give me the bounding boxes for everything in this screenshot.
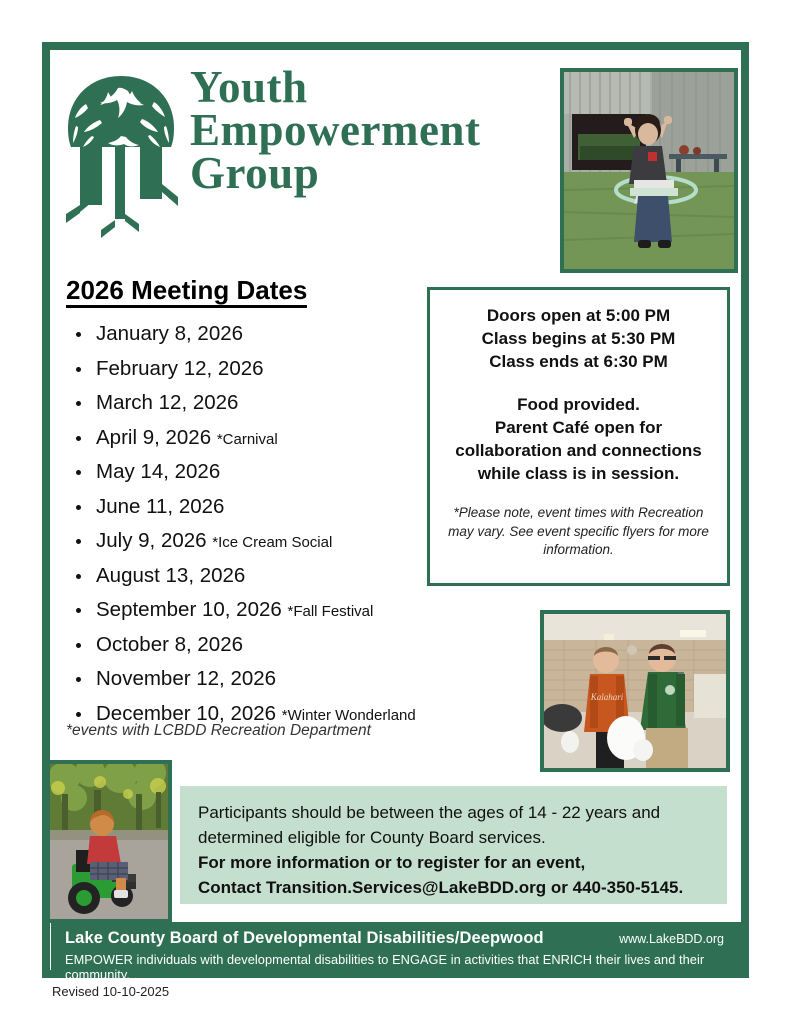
date-text: February 12, 2026: [96, 357, 264, 380]
food-line-3: collaboration and connections: [440, 439, 717, 462]
doors-open-time: Doors open at 5:00 PM: [440, 304, 717, 327]
meeting-dates-list: January 8, 2026 February 12, 2026 March …: [66, 318, 466, 732]
title-line-3: Group: [190, 152, 480, 195]
date-note: *Winter Wonderland: [282, 707, 416, 724]
class-ends-time: Class ends at 6:30 PM: [440, 350, 717, 373]
date-text: August 13, 2026: [96, 564, 245, 587]
registration-prompt: For more information or to register for …: [198, 850, 709, 875]
food-and-cafe-info: Food provided. Parent Café open for coll…: [440, 393, 717, 485]
list-item: June 11, 2026: [66, 491, 466, 526]
title-line-2: Empowerment: [190, 109, 480, 152]
event-times-disclaimer: *Please note, event times with Recreatio…: [440, 504, 717, 560]
schedule-info-box: Doors open at 5:00 PM Class begins at 5:…: [427, 287, 730, 586]
tree-logo-icon: [62, 74, 180, 246]
list-item: November 12, 2026: [66, 663, 466, 698]
date-text: June 11, 2026: [96, 495, 224, 518]
date-text: November 12, 2026: [96, 667, 276, 690]
date-text: July 9, 2026: [96, 529, 207, 552]
list-item: January 8, 2026: [66, 318, 466, 353]
date-note: *Carnival: [217, 431, 278, 448]
date-text: April 9, 2026: [96, 426, 211, 449]
date-note: *Fall Festival: [287, 603, 373, 620]
food-line-1: Food provided.: [440, 393, 717, 416]
disclaimer-text: *Please note, event times with Recreatio…: [440, 504, 717, 560]
footer-tagline: EMPOWER individuals with developmental d…: [65, 952, 730, 982]
list-item: May 14, 2026: [66, 456, 466, 491]
header: Youth Empowerment Group: [60, 70, 560, 260]
footer-bar: Lake County Board of Developmental Disab…: [51, 922, 744, 978]
contact-info[interactable]: Contact Transition.Services@LakeBDD.org …: [198, 875, 709, 900]
class-times: Doors open at 5:00 PM Class begins at 5:…: [440, 304, 717, 373]
revision-date: Revised 10-10-2025: [52, 984, 169, 999]
svg-text:Kalahari: Kalahari: [590, 692, 624, 702]
eligibility-and-contact-box: Participants should be between the ages …: [180, 786, 727, 904]
date-text: January 8, 2026: [96, 322, 243, 345]
title-line-1: Youth: [190, 66, 480, 109]
date-text: March 12, 2026: [96, 391, 238, 414]
date-text: May 14, 2026: [96, 460, 220, 483]
organization-name: Lake County Board of Developmental Disab…: [65, 929, 544, 948]
list-item: July 9, 2026 *Ice Cream Social: [66, 525, 466, 560]
list-item: April 9, 2026 *Carnival: [66, 422, 466, 457]
date-note: *Ice Cream Social: [212, 534, 332, 551]
list-item: February 12, 2026: [66, 353, 466, 388]
eligibility-line-2: determined eligible for County Board ser…: [198, 825, 709, 850]
website-link[interactable]: www.LakeBDD.org: [619, 932, 730, 946]
list-item: March 12, 2026: [66, 387, 466, 422]
photo-two-participants-balloons: Kalahari: [540, 610, 730, 772]
photo-participant-hula-hoop: [560, 68, 738, 273]
date-text: October 8, 2026: [96, 633, 243, 656]
food-line-4: while class is in session.: [440, 462, 717, 485]
dates-footnote: *events with LCBDD Recreation Department: [66, 722, 371, 740]
class-begins-time: Class begins at 5:30 PM: [440, 327, 717, 350]
date-text: September 10, 2026: [96, 598, 282, 621]
page-title: Youth Empowerment Group: [190, 66, 480, 194]
list-item: October 8, 2026: [66, 629, 466, 664]
food-line-2: Parent Café open for: [440, 416, 717, 439]
eligibility-line-1: Participants should be between the ages …: [198, 800, 709, 825]
dates-heading: 2026 Meeting Dates: [66, 277, 307, 308]
photo-participant-wheelchair-basketball: [46, 760, 172, 923]
list-item: September 10, 2026 *Fall Festival: [66, 594, 466, 629]
list-item: August 13, 2026: [66, 560, 466, 595]
